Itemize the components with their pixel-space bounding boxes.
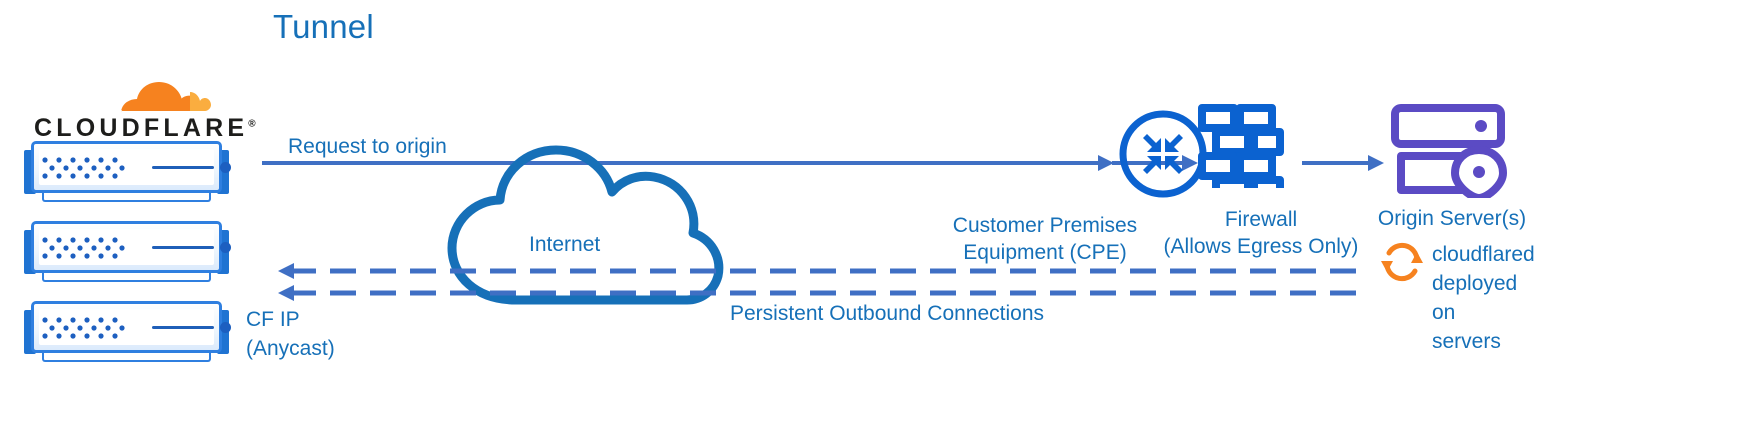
request-flow-label: Request to origin [288, 134, 447, 160]
brick-wall-icon [1196, 100, 1284, 188]
internet-label: Internet [529, 232, 600, 258]
cloudflared-label-line2: deployed on [1432, 269, 1542, 327]
origin-server-label: Origin Server(s) [1352, 206, 1552, 232]
diagram-canvas: Tunnel CLOUDFLARE® [0, 0, 1754, 422]
persistent-connections-label: Persistent Outbound Connections [730, 301, 1044, 327]
firewall-label: Firewall (Allows Egress Only) [1156, 206, 1366, 260]
cloud-icon [452, 150, 719, 300]
firewall-to-origin-arrow [1302, 155, 1384, 171]
circular-arrows-sync-icon [1378, 238, 1426, 286]
persistent-line-upper [278, 263, 1356, 279]
cpe-label: Customer Premises Equipment (CPE) [940, 212, 1150, 266]
cf-ip-label-line1: CF IP [246, 305, 376, 334]
cloudflared-label-line1: cloudflared [1432, 240, 1542, 269]
server-location-pin-icon [1389, 102, 1507, 198]
cf-ip-label: CF IP (Anycast) [246, 305, 376, 363]
cpe-label-line2: Equipment (CPE) [940, 239, 1150, 266]
firewall-label-line1: Firewall [1156, 206, 1366, 233]
cloudflared-label-line3: servers [1432, 327, 1542, 356]
firewall-label-line2: (Allows Egress Only) [1156, 233, 1366, 260]
persistent-line-lower [278, 285, 1356, 301]
cf-ip-label-line2: (Anycast) [246, 334, 376, 363]
cpe-label-line1: Customer Premises [940, 212, 1150, 239]
cloudflared-label: cloudflared deployed on servers [1432, 240, 1542, 356]
